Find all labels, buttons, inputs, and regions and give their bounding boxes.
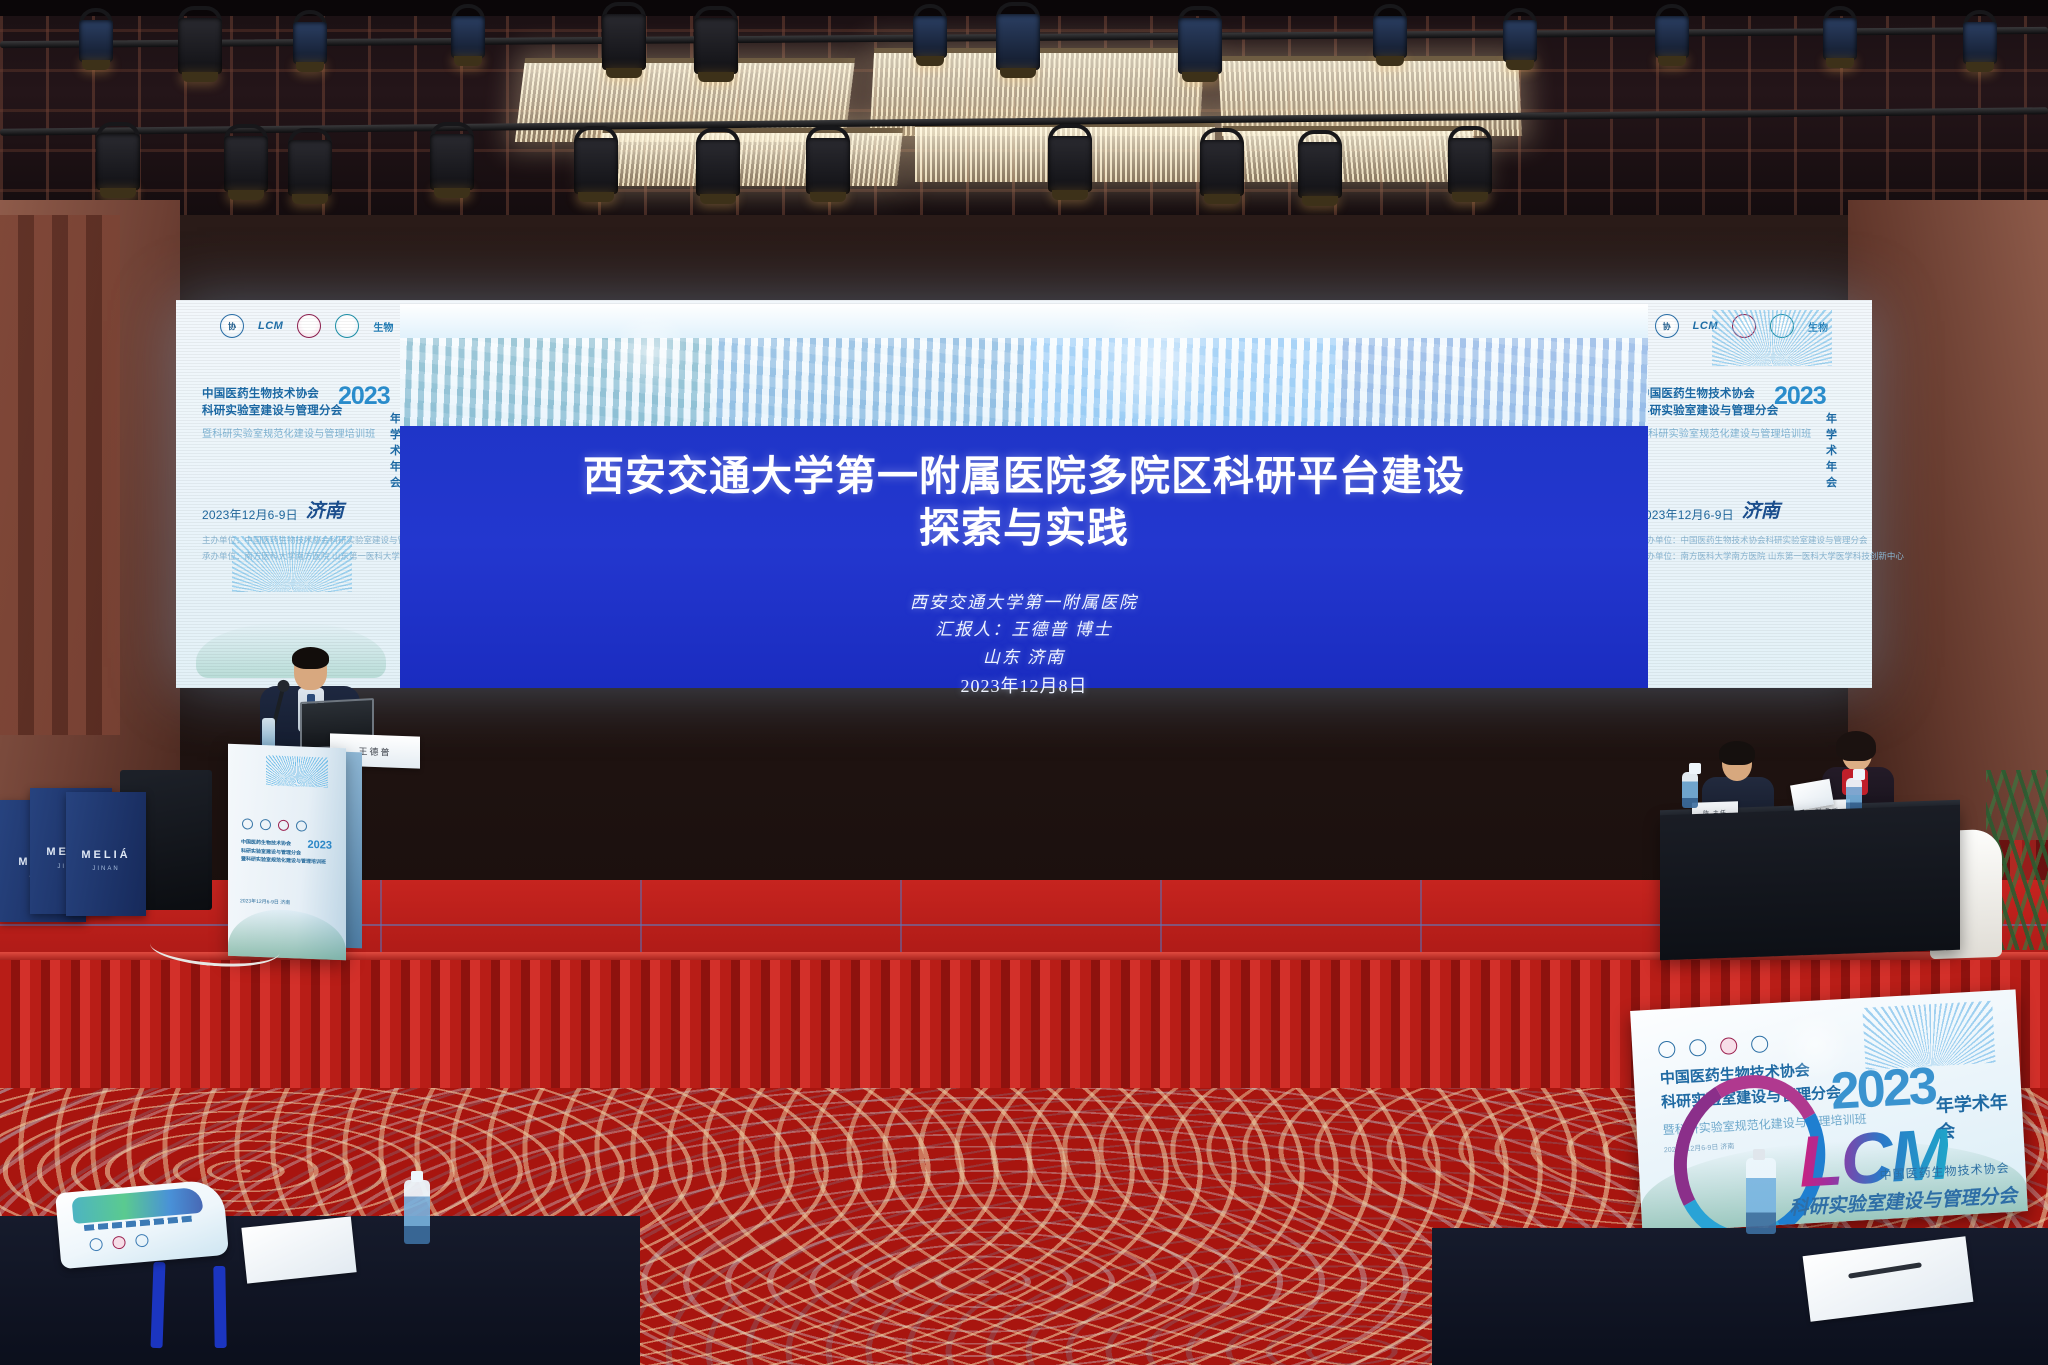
right-banner-fan-graphic — [1712, 310, 1832, 366]
lab-society-logo — [335, 314, 359, 338]
chandelier-panel-6 — [1223, 126, 1478, 182]
tote-logo-2 — [112, 1236, 126, 1250]
standee-lab-logo — [1751, 1035, 1769, 1053]
panelist-1-hair — [1719, 741, 1755, 765]
lens-glow-1 — [1090, 300, 1220, 430]
conference-hall-photo: 协 LCM 生物 协 LCM 生物 中国医药生物技术协会 科研实验室建设与管理分… — [0, 0, 2048, 1365]
right-conference-banner: 中国医药生物技术协会 科研实验室建设与管理分会 暨科研实验室规范化建设与管理培训… — [1638, 386, 1846, 440]
association-seal-logo-right: 协 — [1655, 314, 1679, 338]
lens-glow-2 — [610, 312, 690, 392]
slide-affiliation: 西安交通大学第一附属医院 — [400, 589, 1648, 617]
banner-year-label-right: 年学术年会 — [1826, 410, 1846, 490]
chandelier-panel-3 — [1218, 56, 1522, 136]
panelist-2-hair — [1836, 731, 1876, 761]
conference-tote-bag — [55, 1179, 229, 1269]
podium-biotech-logo — [278, 820, 289, 831]
presenter-hair — [292, 647, 329, 669]
podium-fan-graphic — [266, 755, 328, 787]
slide-title-panel: 西安交通大学第一附属医院多院区科研平台建设 探索与实践 西安交通大学第一附属医院… — [400, 426, 1648, 688]
table-water-bottle-left — [404, 1180, 430, 1244]
banner-subtitle: 暨科研实验室规范化建设与管理培训班 — [202, 425, 410, 440]
left-banner-fan-graphic — [232, 536, 352, 592]
banner-year-right: 2023 — [1774, 382, 1826, 411]
standee-lcm-logo — [1689, 1039, 1707, 1057]
podium-lcm-logo — [260, 819, 271, 830]
banner-coorg-right: 承办单位：南方医科大学南方医院 山东第一医科大学医学科技创新中心 — [1638, 549, 1846, 565]
standee-association-logo — [1658, 1040, 1676, 1058]
handout-paper-left — [241, 1216, 356, 1283]
biotech-cross-logo — [297, 314, 321, 338]
tote-logo-row — [89, 1234, 149, 1252]
standee-year-label: 年学术年会 — [1935, 1087, 2024, 1144]
tote-logo-1 — [89, 1238, 103, 1252]
slide-presenter-block: 西安交通大学第一附属医院 汇报人：王德普 博士 山东 济南 2023年12月8日 — [400, 589, 1648, 701]
standee-biotech-logo — [1720, 1037, 1738, 1055]
left-curtain — [0, 215, 120, 735]
banner-subtitle-right: 暨科研实验室规范化建设与管理培训班 — [1638, 425, 1846, 440]
left-conference-banner: 中国医药生物技术协会 科研实验室建设与管理分会 暨科研实验室规范化建设与管理培训… — [202, 386, 410, 440]
podium-banner-date: 2023年12月6-9日 济南 — [240, 897, 290, 906]
banner-year: 2023 — [338, 382, 390, 411]
panel-water-bottle-2 — [1846, 778, 1862, 812]
chandelier-panel-4 — [597, 128, 903, 186]
slide-title-line2: 探索与实践 — [437, 502, 1610, 554]
slide-presenter: 汇报人：王德普 博士 — [400, 616, 1648, 644]
lcm-logo: LCM — [258, 320, 283, 332]
lens-glow-3 — [1780, 1010, 1850, 1080]
slide-location: 山东 济南 — [400, 644, 1648, 672]
sponsor-bio-logo: 生物 — [373, 319, 393, 334]
table-water-bottle-right — [1746, 1158, 1776, 1234]
banner-date-right: 2023年12月6-9日 — [1638, 506, 1734, 523]
podium-nameplate-text: 王德普 — [358, 744, 391, 758]
panel-table — [1660, 805, 1960, 960]
melia-city-3: JINAN — [66, 866, 146, 872]
melia-brand-3: MELIÁ — [66, 849, 146, 861]
association-seal-logo: 协 — [220, 314, 244, 338]
tote-logo-3 — [135, 1234, 149, 1248]
banner-city: 济南 — [306, 496, 344, 523]
podium-water-bottle — [262, 718, 275, 748]
standee-logo-row — [1658, 1035, 1769, 1058]
panel-water-bottle-1 — [1682, 772, 1698, 808]
podium: 中国医药生物技术协会 科研实验室建设与管理分会 暨科研实验室规范化建设与管理培训… — [228, 744, 346, 961]
slide-header-photo-strip — [400, 304, 1648, 426]
podium-logo-row — [242, 818, 307, 831]
banner-host-right: 主办单位：中国医药生物技术协会科研实验室建设与管理分会 — [1638, 533, 1846, 549]
podium-lab-logo — [296, 820, 307, 831]
slide-title-line1: 西安交通大学第一附属医院多院区科研平台建设 — [437, 450, 1610, 502]
podium-banner-year: 2023 — [308, 839, 332, 852]
right-banner-meta: 2023年12月6-9日 济南 主办单位：中国医药生物技术协会科研实验室建设与管… — [1638, 496, 1846, 564]
led-logo-row-left: 协 LCM 生物 — [220, 314, 393, 338]
slide-date: 2023年12月8日 — [400, 672, 1648, 701]
podium-association-logo — [242, 818, 253, 829]
lanyard-strap-2 — [213, 1266, 226, 1348]
banner-date: 2023年12月6-9日 — [202, 506, 298, 523]
campus-aerial-photo-2 — [712, 304, 1024, 426]
campus-aerial-photo-4 — [1336, 304, 1648, 426]
banner-city-right: 济南 — [1742, 496, 1780, 523]
melia-bin-3: MELIÁ JINAN — [66, 792, 146, 916]
